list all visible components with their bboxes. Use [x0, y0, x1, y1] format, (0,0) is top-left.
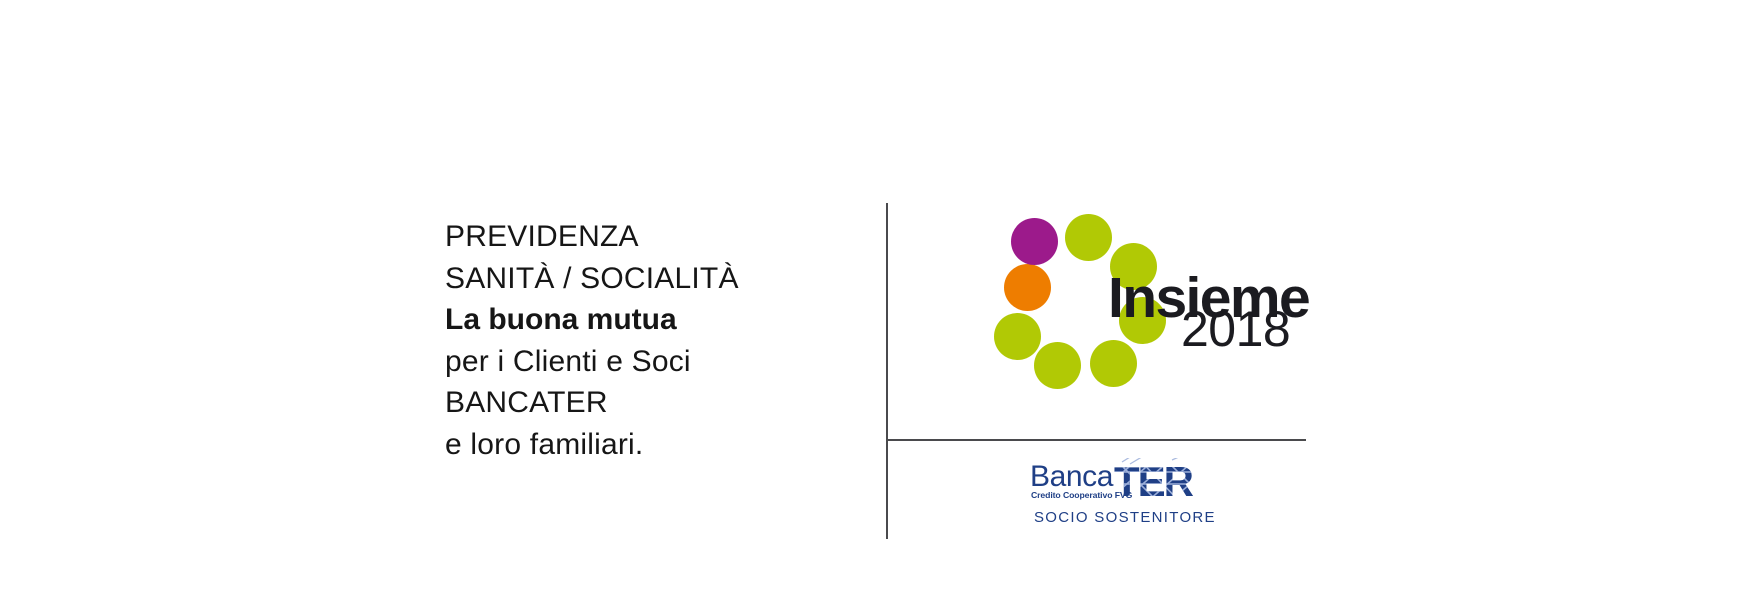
headline-line-la-buona-mutua: La buona mutua	[445, 299, 825, 341]
socio-sostenitore-text: SOCIO SOSTENITORE	[1034, 510, 1216, 525]
bancater-logo: Banca Credito Cooperativo FVG TER TER	[1030, 462, 1260, 530]
ter-wordmark-graphic: TER TER	[1114, 458, 1210, 504]
insieme-year-text: 2018	[1181, 304, 1290, 354]
ring-dot-top-left-magenta	[1011, 218, 1058, 265]
ring-dot-left-upper-orange	[1004, 264, 1051, 311]
horizontal-divider-rule	[886, 439, 1306, 441]
headline-line-per-i-clienti-e-soci: per i Clienti e Soci	[445, 341, 825, 383]
headline-line-previdenza: PREVIDENZA	[445, 216, 825, 258]
ring-dot-top-right-green	[1065, 214, 1112, 261]
ring-dot-bottom-right-green	[1090, 340, 1137, 387]
ring-dot-left-lower-green	[994, 313, 1041, 360]
banca-word-text: Banca	[1030, 462, 1113, 492]
ring-dot-bottom-left-green	[1034, 342, 1081, 389]
headline-line-e-loro-familiari: e loro familiari.	[445, 424, 825, 466]
vertical-divider-rule	[886, 203, 888, 539]
headline-line-bancater: BANCATER	[445, 382, 825, 424]
headline-line-sanita-socialita: SANITÀ / SOCIALITÀ	[445, 258, 825, 300]
bancater-wordmark-group: Banca Credito Cooperativo FVG TER TER	[1030, 462, 1260, 504]
insieme-2018-logo: Insieme 2018	[985, 192, 1365, 392]
headline-block: PREVIDENZA SANITÀ / SOCIALITÀ La buona m…	[445, 216, 825, 465]
